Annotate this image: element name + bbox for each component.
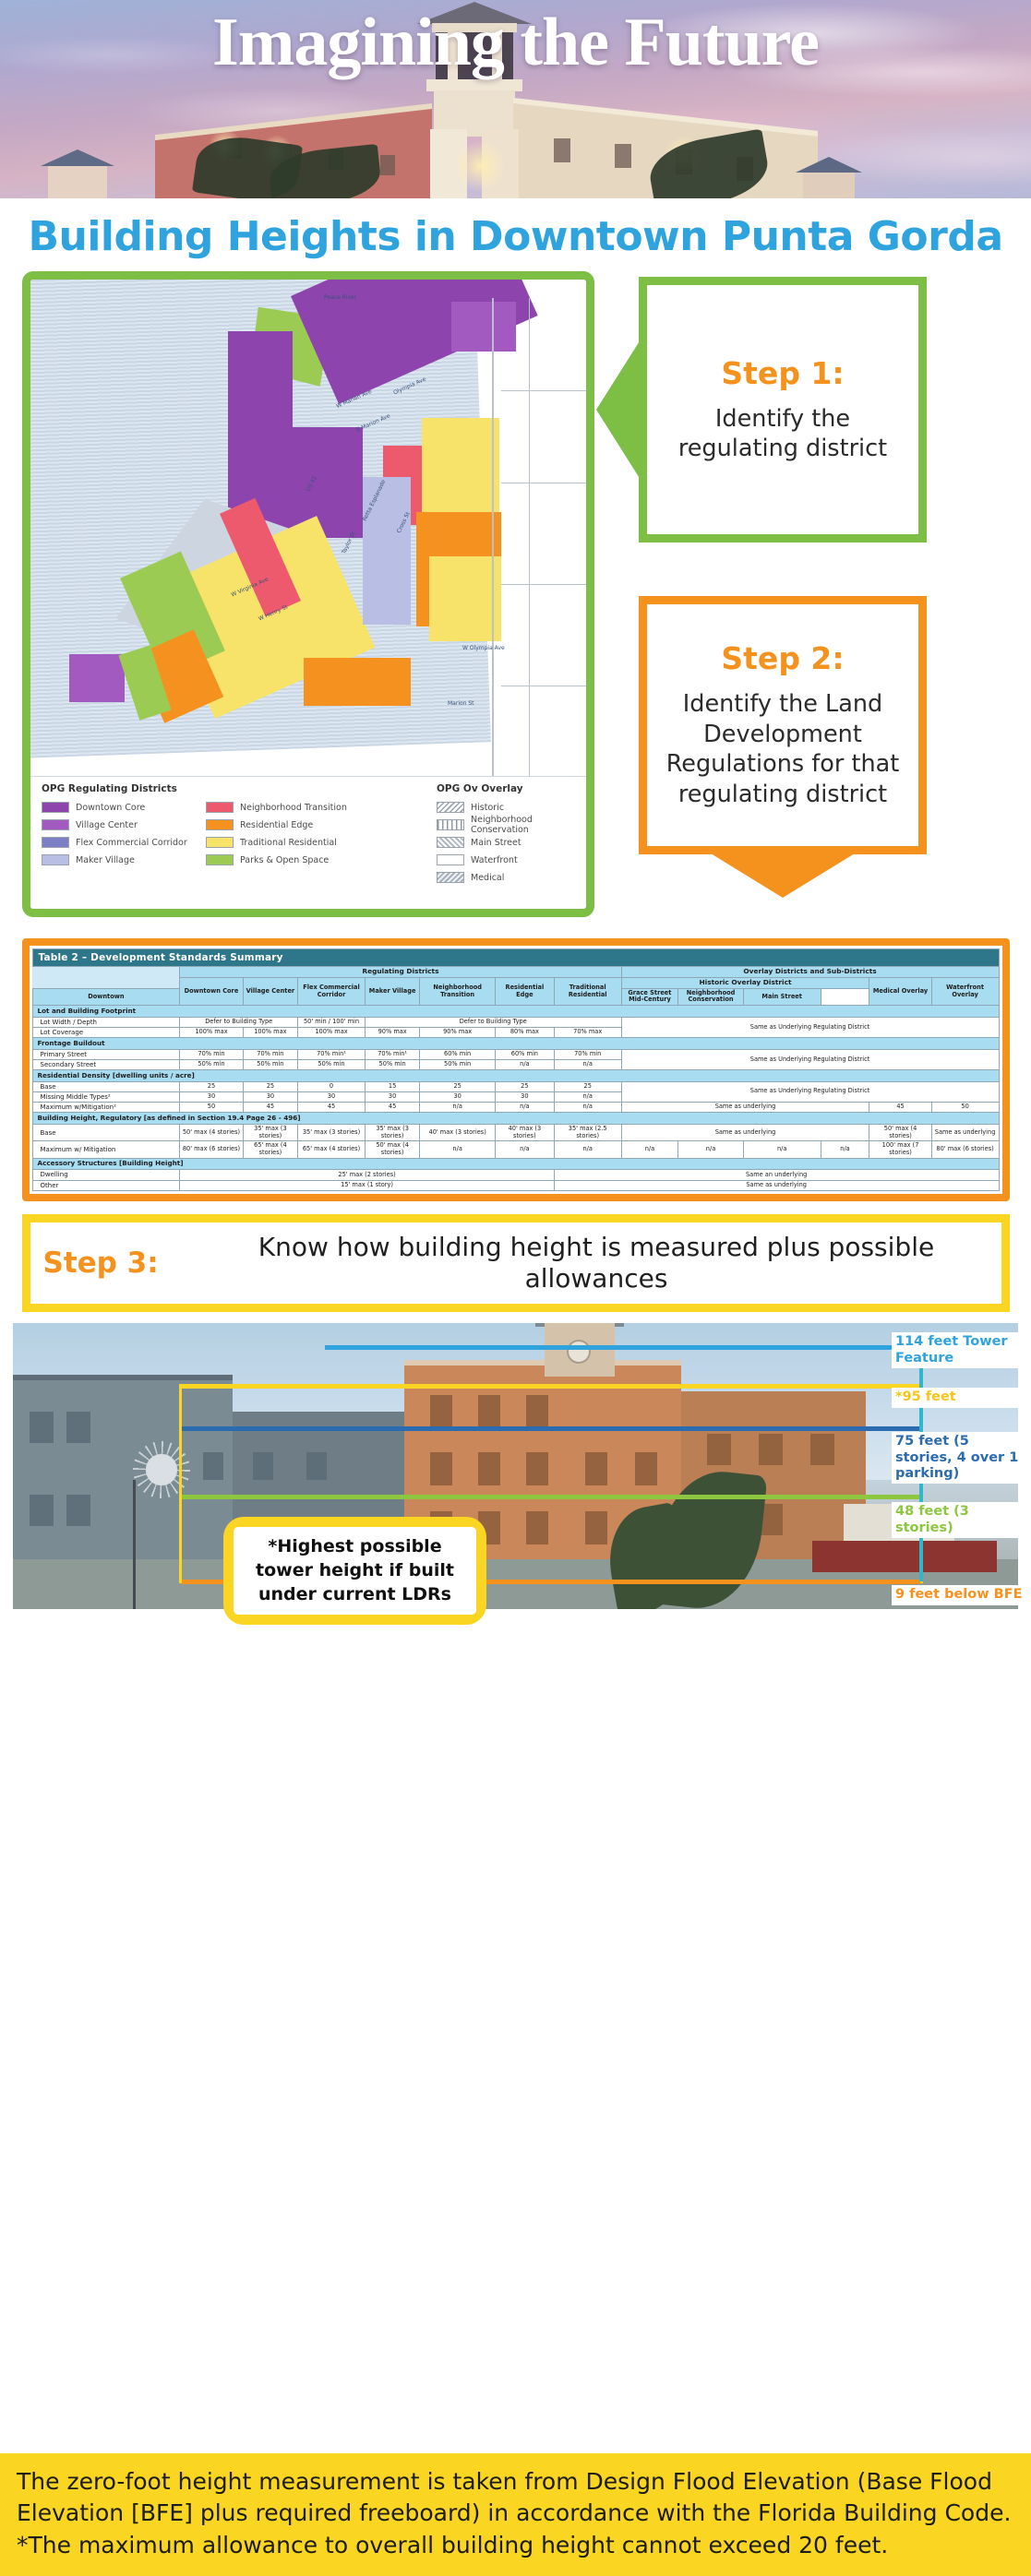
legend-item: Waterfront	[437, 852, 577, 869]
cell: n/a	[495, 1141, 554, 1159]
legend-item: Neighborhood Conservation	[437, 817, 577, 834]
cell: 70% min	[243, 1049, 298, 1059]
annotation-75-feet: 75 feet (5 stories, 4 over 1 parking)	[892, 1432, 1028, 1484]
tower-height-note-text: *Highest possible tower height if built …	[234, 1527, 476, 1615]
cell: 80% max	[495, 1027, 554, 1037]
step-2-callout[interactable]: Step 2: Identify the Land Development Re…	[639, 596, 927, 854]
legend-label: Downtown Core	[76, 803, 145, 813]
step-3-label: Step 3:	[43, 1246, 196, 1280]
cell: 60% min	[420, 1049, 496, 1059]
section-header-frontage-buildout: Frontage Buildout	[32, 1038, 999, 1049]
table-row: Maximum w/Mitigation² 50 45 45 45 n/a n/…	[32, 1103, 999, 1113]
table-corner-cell	[32, 967, 180, 988]
legend-item: Flex Commercial Corridor	[42, 834, 206, 852]
cell: 25	[495, 1081, 554, 1091]
col-historic-downtown: Downtown	[32, 988, 180, 1006]
cell: 30	[365, 1091, 420, 1102]
cell: 50% min	[243, 1059, 298, 1069]
cell: 50' min / 100' min	[298, 1017, 366, 1027]
left-turret	[48, 166, 107, 198]
table-row: Dwelling 25' max (2 stories) Same an und…	[32, 1170, 999, 1180]
window	[66, 1495, 90, 1526]
legend-label: Neighborhood Transition	[240, 803, 347, 813]
row-label-lot-coverage: Lot Coverage	[32, 1027, 180, 1037]
legend-item: Parks & Open Space	[206, 852, 437, 869]
window	[66, 1412, 90, 1443]
group-header-overlay: Overlay Districts and Sub-Districts	[621, 967, 999, 978]
step-3-text: Know how building height is measured plu…	[205, 1232, 989, 1294]
height-diagram-section: 114 feet Tower Feature *95 feet 75 feet …	[0, 1323, 1031, 1641]
tower-height-note: *Highest possible tower height if built …	[223, 1517, 486, 1625]
group-header-historic-overlay: Historic Overlay District	[621, 977, 869, 988]
row-label-maximum-with-mitigation-height: Maximum w/ Mitigation	[32, 1141, 180, 1159]
annotation-9-feet-below-bfe: 9 feet below BFE	[892, 1585, 1028, 1604]
cell: n/a	[495, 1059, 554, 1069]
map-polygon-residential-edge	[304, 658, 411, 706]
cell: n/a	[420, 1141, 496, 1159]
cell: 30	[243, 1091, 298, 1102]
col-maker-village: Maker Village	[365, 977, 420, 1005]
cell-same-as-underlying: Same as underlying	[621, 1103, 869, 1113]
cell-overlay-same-as-underlying: Same as Underlying Regulating District	[621, 1049, 999, 1070]
cell-waterfront: 80' max (6 stories)	[931, 1141, 999, 1159]
window	[30, 1495, 54, 1526]
map-label: W Olympia Ave	[462, 645, 505, 651]
step-2-text: Identify the Land Development Regulation…	[647, 689, 918, 810]
cell: 100% max	[243, 1027, 298, 1037]
window	[554, 138, 570, 162]
cell: Defer to Building Type	[365, 1017, 621, 1027]
map-label: Peace River	[324, 294, 356, 301]
cell-waterfront: Same as underlying	[931, 1124, 999, 1141]
col-residential-edge: Residential Edge	[495, 977, 554, 1005]
map-polygon-traditional-residential	[429, 556, 501, 641]
cell: 100% max	[180, 1027, 243, 1037]
facade-light	[454, 140, 506, 192]
legend-label: Waterfront	[471, 855, 518, 865]
street-lamp	[133, 1480, 136, 1609]
table-row: Lot Width / Depth Defer to Building Type…	[32, 1017, 999, 1027]
step-1-callout[interactable]: Step 1: Identify the regulating district	[639, 277, 927, 543]
table-row: Base 50' max (4 stories) 35' max (3 stor…	[32, 1124, 999, 1141]
cell: 50	[180, 1103, 243, 1113]
row-label-secondary-street: Secondary Street	[32, 1059, 180, 1069]
col-downtown-core: Downtown Core	[180, 977, 243, 1005]
cell: n/a	[743, 1141, 821, 1159]
col-waterfront-overlay: Waterfront Overlay	[931, 977, 999, 1005]
cell: 70% min	[180, 1049, 243, 1059]
map-canvas[interactable]: Peace River W Marion Ave E Marion Ave US…	[30, 280, 586, 793]
section-header-lot-building-footprint: Lot and Building Footprint	[32, 1006, 999, 1017]
cell: n/a	[554, 1141, 621, 1159]
legend-label: Parks & Open Space	[240, 855, 329, 865]
cell: 70% min	[554, 1049, 621, 1059]
cell: 30	[180, 1091, 243, 1102]
cell: 25	[420, 1081, 496, 1091]
legend-label: Medical	[471, 873, 504, 883]
legend-swatch	[206, 802, 234, 813]
legend-label: Flex Commercial Corridor	[76, 838, 187, 848]
row-label-base-density: Base	[32, 1081, 180, 1091]
cell: 35' max (3 stories)	[243, 1124, 298, 1141]
cell: 30	[298, 1091, 366, 1102]
page-title: Building Heights in Downtown Punta Gorda	[22, 213, 1010, 262]
cell: 45	[298, 1103, 366, 1113]
cell: 90% max	[420, 1027, 496, 1037]
cell: 60% min	[495, 1049, 554, 1059]
right-turret	[803, 173, 855, 198]
cell: Defer to Building Type	[180, 1017, 298, 1027]
annotation-95-feet: *95 feet	[892, 1388, 1028, 1407]
footnote-banner: The zero-foot height measurement is take…	[0, 2453, 1031, 2576]
cell: 50% min	[420, 1059, 496, 1069]
legend-item: Downtown Core	[42, 799, 206, 817]
legend-heading-regulating: OPG Regulating Districts	[42, 783, 437, 794]
group-header-regulating: Regulating Districts	[180, 967, 621, 978]
map-label: Marion St	[448, 700, 474, 707]
cell: 45	[365, 1103, 420, 1113]
cell-medical: 100' max (7 stories)	[869, 1141, 931, 1159]
cell: 30	[495, 1091, 554, 1102]
col-traditional-residential: Traditional Residential	[554, 977, 621, 1005]
cell-overlay-same-as-underlying: Same as Underlying Regulating District	[621, 1081, 999, 1103]
row-label-dwelling: Dwelling	[32, 1170, 180, 1180]
cell: 50' max (4 stories)	[180, 1124, 243, 1141]
legend-item: Medical	[437, 869, 577, 887]
row-label-lot-width-depth: Lot Width / Depth	[32, 1017, 180, 1027]
legend-swatch-historic	[437, 802, 464, 813]
col-flex-commercial-corridor: Flex Commercial Corridor	[298, 977, 366, 1005]
map-polygon-village-center	[451, 302, 516, 352]
col-neighborhood-transition: Neighborhood Transition	[420, 977, 496, 1005]
annotation-114-feet-tower-feature: 114 feet Tower Feature	[892, 1332, 1028, 1368]
cell-medical: 50' max (4 stories)	[869, 1124, 931, 1141]
legend-swatch	[42, 802, 69, 813]
cell-same-as-underlying: Same as underlying	[621, 1124, 869, 1141]
cell-medical: 45	[869, 1103, 931, 1113]
cell: 15	[365, 1081, 420, 1091]
cell: 50% min	[180, 1059, 243, 1069]
legend-swatch	[206, 819, 234, 830]
legend-item: Traditional Residential	[206, 834, 437, 852]
cell: 100% max	[298, 1027, 366, 1037]
cell-overlay-same-as-underlying: Same as Underlying Regulating District	[621, 1017, 999, 1038]
section-header-accessory-structures: Accessory Structures [Building Height]	[32, 1158, 999, 1169]
cell: 65' max (4 stories)	[243, 1141, 298, 1159]
map-and-steps-section: Peace River W Marion Ave E Marion Ave US…	[0, 271, 1031, 931]
development-standards-table-card[interactable]: Table 2 – Development Standards Summary …	[22, 938, 1010, 1201]
step-1-label: Step 1:	[721, 355, 844, 391]
col-main-street: Main Street	[743, 988, 821, 1006]
col-medical-overlay: Medical Overlay	[869, 977, 931, 1005]
row-label-primary-street: Primary Street	[32, 1049, 180, 1059]
cell: 40' max (3 stories)	[420, 1124, 496, 1141]
legend-label: Neighborhood Conservation	[471, 815, 577, 835]
legend-item: Village Center	[42, 817, 206, 834]
legend-swatch	[42, 854, 69, 865]
legend-item: Neighborhood Transition	[206, 799, 437, 817]
legend-label: Historic	[471, 803, 504, 813]
cell: 80' max (6 stories)	[180, 1141, 243, 1159]
cell-waterfront: 50	[931, 1103, 999, 1113]
cell: n/a	[621, 1141, 678, 1159]
row-label-missing-middle-types: Missing Middle Types²	[32, 1091, 180, 1102]
cell-regulating-span: 25' max (2 stories)	[180, 1170, 555, 1180]
cell: 25	[554, 1081, 621, 1091]
cell: n/a	[821, 1141, 869, 1159]
cell: 70% min¹	[298, 1049, 366, 1059]
development-standards-table: Table 2 – Development Standards Summary …	[32, 948, 1000, 1191]
row-label-other: Other	[32, 1180, 180, 1190]
cell: 50% min	[365, 1059, 420, 1069]
cell: 70% min¹	[365, 1049, 420, 1059]
col-village-center: Village Center	[243, 977, 298, 1005]
legend-label: Village Center	[76, 820, 138, 830]
cell: 40' max (3 stories)	[495, 1124, 554, 1141]
step-2-label: Step 2:	[721, 640, 844, 676]
legend-swatch	[42, 819, 69, 830]
legend-swatch	[206, 837, 234, 848]
cell: 90% max	[365, 1027, 420, 1037]
window	[30, 1412, 54, 1443]
section-header-building-height-regulatory: Building Height, Regulatory [as defined …	[32, 1113, 999, 1124]
cell: 30	[420, 1091, 496, 1102]
hero-banner: Imagining the Future	[0, 0, 1031, 198]
cell-overlay-span: Same an underlying	[554, 1170, 999, 1180]
legend-swatch	[42, 837, 69, 848]
cell: n/a	[678, 1141, 744, 1159]
legend-item: Residential Edge	[206, 817, 437, 834]
measure-line-114ft	[325, 1345, 921, 1350]
table-row: Base 25 25 0 15 25 25 25 Same as Underly…	[32, 1081, 999, 1091]
map-polygon-maker-village	[363, 477, 411, 625]
hero-title: Imagining the Future	[0, 7, 1031, 79]
table-row: Maximum w/ Mitigation 80' max (6 stories…	[32, 1141, 999, 1159]
cell: n/a	[554, 1091, 621, 1102]
cell-overlay-span: Same as underlying	[554, 1180, 999, 1190]
cell: 50' max (4 stories)	[365, 1141, 420, 1159]
cell: 45	[243, 1103, 298, 1113]
col-grace-street-mid-century: Grace Street Mid-Century	[621, 988, 678, 1006]
cell: 70% max	[554, 1027, 621, 1037]
legend-swatch-waterfront	[437, 854, 464, 865]
legend-swatch-neighborhood-conservation	[437, 819, 464, 830]
step-3-callout[interactable]: Step 3: Know how building height is meas…	[22, 1214, 1010, 1312]
window	[380, 155, 395, 175]
cell: n/a	[420, 1103, 496, 1113]
map-legend: OPG Regulating Districts Downtown Core V…	[30, 776, 586, 909]
cell: 25	[180, 1081, 243, 1091]
cell: n/a	[554, 1103, 621, 1113]
cell: 35' max (3 stories)	[298, 1124, 366, 1141]
window	[615, 144, 631, 168]
legend-label: Traditional Residential	[240, 838, 337, 848]
legend-item: Main Street	[437, 834, 577, 852]
row-label-maximum-with-mitigation-density: Maximum w/Mitigation²	[32, 1103, 180, 1113]
map-polygon-village-center	[69, 654, 125, 702]
right-turret-roof	[796, 157, 862, 173]
step-1-text: Identify the regulating district	[647, 404, 918, 464]
regulating-districts-map-card[interactable]: Peace River W Marion Ave E Marion Ave US…	[22, 271, 594, 917]
cell: 65' max (4 stories)	[298, 1141, 366, 1159]
legend-label: Maker Village	[76, 855, 135, 865]
legend-swatch-medical	[437, 872, 464, 883]
table-row: Other 15' max (1 story) Same as underlyi…	[32, 1180, 999, 1190]
legend-label: Residential Edge	[240, 820, 313, 830]
table-row: Primary Street 70% min 70% min 70% min¹ …	[32, 1049, 999, 1059]
annotation-48-feet: 48 feet (3 stories)	[892, 1502, 1028, 1538]
cell: 0	[298, 1081, 366, 1091]
legend-swatch-main-street	[437, 837, 464, 848]
cell: n/a	[554, 1059, 621, 1069]
legend-item: Maker Village	[42, 852, 206, 869]
cell: 35' max (3 stories)	[365, 1124, 420, 1141]
cell: n/a	[495, 1103, 554, 1113]
table-title: Table 2 – Development Standards Summary	[32, 948, 999, 966]
legend-item: Historic	[437, 799, 577, 817]
legend-swatch	[206, 854, 234, 865]
footnote-text: The zero-foot height measurement is take…	[17, 2468, 1011, 2558]
cell: 35' max (2.5 stories)	[554, 1124, 621, 1141]
row-label-base-height: Base	[32, 1124, 180, 1141]
legend-heading-overlay: OPG Ov Overlay	[437, 783, 577, 794]
col-neighborhood-conservation: Neighborhood Conservation	[678, 988, 744, 1006]
cell: 25	[243, 1081, 298, 1091]
cell: 50% min	[298, 1059, 366, 1069]
left-turret-roof	[41, 149, 114, 166]
section-header-residential-density: Residential Density [dwelling units / ac…	[32, 1070, 999, 1081]
cell-regulating-span: 15' max (1 story)	[180, 1180, 555, 1190]
legend-label: Main Street	[471, 838, 521, 848]
